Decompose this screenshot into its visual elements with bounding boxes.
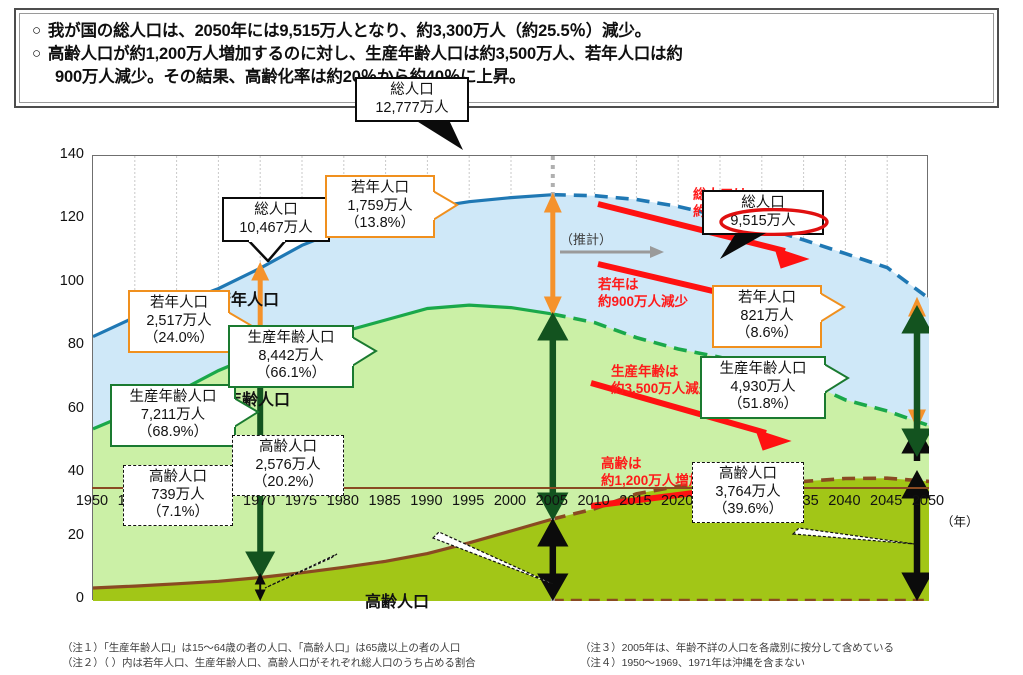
callout-young-2050[interactable]: 若年人口 821万人 （8.6%） xyxy=(712,285,822,348)
callout-working-1970-label: 生産年齢人口 xyxy=(117,389,229,407)
callout-young-2005-tail xyxy=(433,189,459,223)
callout-young-2005[interactable]: 若年人口 1,759万人 （13.8%） xyxy=(325,175,435,238)
y-tick-80: 80 xyxy=(38,336,84,352)
callout-working-2005-tail xyxy=(352,335,378,369)
population-chart-page: ○ 我が国の総人口は、2050年には9,515万人となり、約3,300万人（約2… xyxy=(0,0,1023,675)
callout-working-1970-value: 7,211万人 xyxy=(117,407,229,425)
y-tick-60: 60 xyxy=(38,400,84,416)
callout-total-2050-tail xyxy=(718,233,770,261)
x-tick-2040: 2040 xyxy=(828,493,860,509)
callout-young-2005-share: （13.8%） xyxy=(332,215,428,233)
callout-elderly-2050-share: （39.6%） xyxy=(698,501,798,519)
callout-elderly-1970-label: 高齢人口 xyxy=(129,469,227,487)
footnote-4: （注４）1950～1969、1971年は沖縄を含まない xyxy=(580,655,805,670)
estimate-marker: （推計） xyxy=(560,229,670,258)
y-tick-0: 0 xyxy=(38,590,84,606)
callout-young-2050-value: 821万人 xyxy=(719,308,815,326)
callout-working-1970[interactable]: 生産年齢人口 7,211万人 （68.9%） xyxy=(110,384,236,447)
callout-total-1970-label: 総人口 xyxy=(229,202,323,220)
callout-elderly-2050-value: 3,764万人 xyxy=(698,484,798,502)
callout-working-2050-tail xyxy=(824,362,850,396)
callout-working-2050-value: 4,930万人 xyxy=(707,379,819,397)
summary-line-3: 900万人減少。その結果、高齢化率は約20％から約40％に上昇。 xyxy=(32,67,983,89)
footnote-2: （注２）（ ）内は若年人口、生産年齢人口、高齢人口がそれぞれ総人口のうち占める割… xyxy=(62,655,476,670)
young-trend-line2: 約900万人減少 xyxy=(598,294,688,311)
x-tick-2050: 2050 xyxy=(912,493,944,509)
callout-working-2050-label: 生産年齢人口 xyxy=(707,361,819,379)
callout-young-1970[interactable]: 若年人口 2,517万人 （24.0%） xyxy=(128,290,230,353)
footnote-1: （注１）「生産年齢人口」は15～64歳の者の人口、「高齢人口」は65歳以上の者の… xyxy=(62,640,460,655)
callout-elderly-2050-label: 高齢人口 xyxy=(698,466,798,484)
x-tick-2045: 2045 xyxy=(870,493,902,509)
callout-elderly-1970-value: 739万人 xyxy=(129,487,227,505)
young-trend-line1: 若年は xyxy=(598,277,688,294)
x-tick-2015: 2015 xyxy=(619,493,651,509)
elderly-trend-line1: 高齢は xyxy=(601,456,702,473)
population-chart: 140 120 100 80 60 40 20 0 xyxy=(0,112,1023,675)
elderly-trend-note: 高齢は 約1,200万人増加 xyxy=(601,456,702,489)
callout-total-1970-tail xyxy=(246,240,290,262)
callout-total-2050-value-wrap: 9,515万人 xyxy=(730,213,795,231)
callout-young-2005-label: 若年人口 xyxy=(332,180,428,198)
summary-line-1: ○ 我が国の総人口は、2050年には9,515万人となり、約3,300万人（約2… xyxy=(32,21,983,43)
elderly-trend-line2: 約1,200万人増加 xyxy=(601,473,702,490)
callout-young-2050-tail xyxy=(820,291,846,325)
callout-elderly-2005-value: 2,576万人 xyxy=(238,457,338,475)
y-tick-100: 100 xyxy=(38,273,84,289)
x-tick-1985: 1985 xyxy=(368,493,400,509)
x-tick-2010: 2010 xyxy=(577,493,609,509)
summary-text-1: 我が国の総人口は、2050年には9,515万人となり、約3,300万人（約25.… xyxy=(48,21,983,43)
callout-working-2005-share: （66.1%） xyxy=(235,365,347,383)
working-trend-line2: 約3,500万人減少 xyxy=(611,381,712,398)
y-axis-labels: 140 120 100 80 60 40 20 0 xyxy=(32,155,84,605)
young-trend-note: 若年は 約900万人減少 xyxy=(598,277,688,310)
summary-text-3: 900万人減少。その結果、高齢化率は約20％から約40％に上昇。 xyxy=(55,67,983,89)
y-tick-40: 40 xyxy=(38,463,84,479)
callout-elderly-2005-share: （20.2%） xyxy=(238,474,338,492)
red-ellipse-highlight xyxy=(718,208,830,236)
x-tick-1990: 1990 xyxy=(410,493,442,509)
callout-young-1970-label: 若年人口 xyxy=(135,295,223,313)
working-trend-line1: 生産年齢は xyxy=(611,364,712,381)
callout-young-2050-label: 若年人口 xyxy=(719,290,815,308)
callout-working-1970-share: （68.9%） xyxy=(117,424,229,442)
footnotes: （注１）「生産年齢人口」は15～64歳の者の人口、「高齢人口」は65歳以上の者の… xyxy=(0,640,1023,675)
elderly-area-label: 高齢人口 xyxy=(365,588,429,612)
y-tick-20: 20 xyxy=(38,527,84,543)
callout-total-2005-tail xyxy=(413,120,473,152)
callout-young-1970-share: （24.0%） xyxy=(135,330,223,348)
summary-line-2: ○ 高齢人口が約1,200万人増加するのに対し、生産年齢人口は約3,500万人、… xyxy=(32,44,983,66)
callout-young-1970-value: 2,517万人 xyxy=(135,313,223,331)
callout-total-1970[interactable]: 総人口 10,467万人 xyxy=(222,197,330,242)
bullet-icon: ○ xyxy=(32,21,41,41)
callout-working-2005[interactable]: 生産年齢人口 8,442万人 （66.1%） xyxy=(228,325,354,388)
callout-working-2005-label: 生産年齢人口 xyxy=(235,330,347,348)
callout-total-1970-value: 10,467万人 xyxy=(229,220,323,238)
callout-elderly-2050[interactable]: 高齢人口 3,764万人 （39.6%） xyxy=(692,462,804,523)
footnote-3: （注３）2005年は、年齢不詳の人口を各歳別に按分して含めている xyxy=(580,640,894,655)
callout-elderly-2005-label: 高齢人口 xyxy=(238,439,338,457)
callout-elderly-2005[interactable]: 高齢人口 2,576万人 （20.2%） xyxy=(232,435,344,496)
summary-text-2: 高齢人口が約1,200万人増加するのに対し、生産年齢人口は約3,500万人、若年… xyxy=(48,44,983,66)
bullet-icon-2: ○ xyxy=(32,44,41,64)
callout-young-2005-value: 1,759万人 xyxy=(332,198,428,216)
working-trend-note: 生産年齢は 約3,500万人減少 xyxy=(611,364,712,397)
x-tick-1950: 1950 xyxy=(76,493,108,509)
y-tick-140: 140 xyxy=(38,146,84,162)
y-tick-120: 120 xyxy=(38,209,84,225)
callout-total-2005[interactable]: 総人口 12,777万人 xyxy=(355,77,469,122)
callout-total-2005-value: 12,777万人 xyxy=(362,100,462,118)
callout-working-1970-tail xyxy=(234,396,260,430)
callout-working-2050-share: （51.8%） xyxy=(707,396,819,414)
summary-box: ○ 我が国の総人口は、2050年には9,515万人となり、約3,300万人（約2… xyxy=(14,8,999,108)
callout-working-2050[interactable]: 生産年齢人口 4,930万人 （51.8%） xyxy=(700,356,826,419)
callout-total-2050[interactable]: 総人口 9,515万人 xyxy=(702,190,824,235)
callout-young-2050-share: （8.6%） xyxy=(719,325,815,343)
callout-elderly-1970-share: （7.1%） xyxy=(129,504,227,522)
x-tick-2020: 2020 xyxy=(661,493,693,509)
x-tick-1995: 1995 xyxy=(452,493,484,509)
callout-elderly-1970[interactable]: 高齢人口 739万人 （7.1%） xyxy=(123,465,233,526)
x-axis-unit-label: （年） xyxy=(941,511,979,530)
x-tick-2000: 2000 xyxy=(494,493,526,509)
summary-inner-border: ○ 我が国の総人口は、2050年には9,515万人となり、約3,300万人（約2… xyxy=(19,13,994,103)
callout-total-2005-label: 総人口 xyxy=(362,82,462,100)
x-tick-2005: 2005 xyxy=(536,493,568,509)
callout-working-2005-value: 8,442万人 xyxy=(235,348,347,366)
